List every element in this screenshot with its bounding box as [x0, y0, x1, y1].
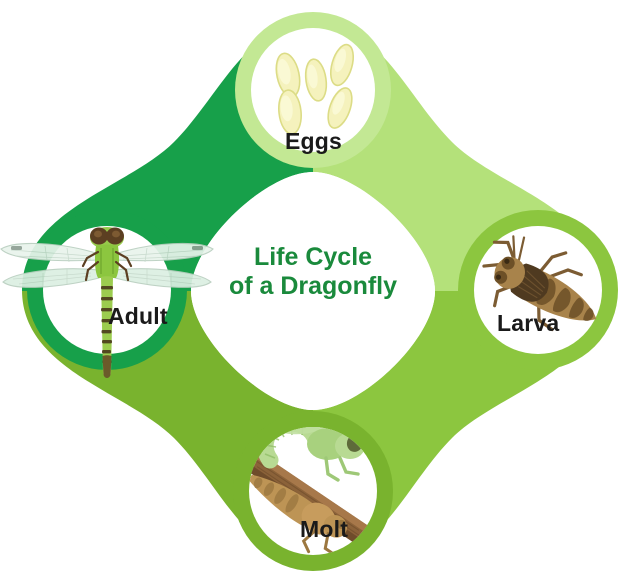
- dragonfly-life-cycle-diagram: Life Cycle of a Dragonfly Eggs Larva Mol…: [0, 0, 626, 583]
- stage-label-larva: Larva: [497, 310, 559, 337]
- stage-label-adult: Adult: [108, 303, 168, 330]
- title-line-2: of a Dragonfly: [213, 272, 413, 301]
- stage-label-eggs: Eggs: [285, 128, 342, 155]
- stage-label-molt: Molt: [300, 516, 348, 543]
- page-title: Life Cycle of a Dragonfly: [213, 243, 413, 300]
- title-line-1: Life Cycle: [213, 243, 413, 272]
